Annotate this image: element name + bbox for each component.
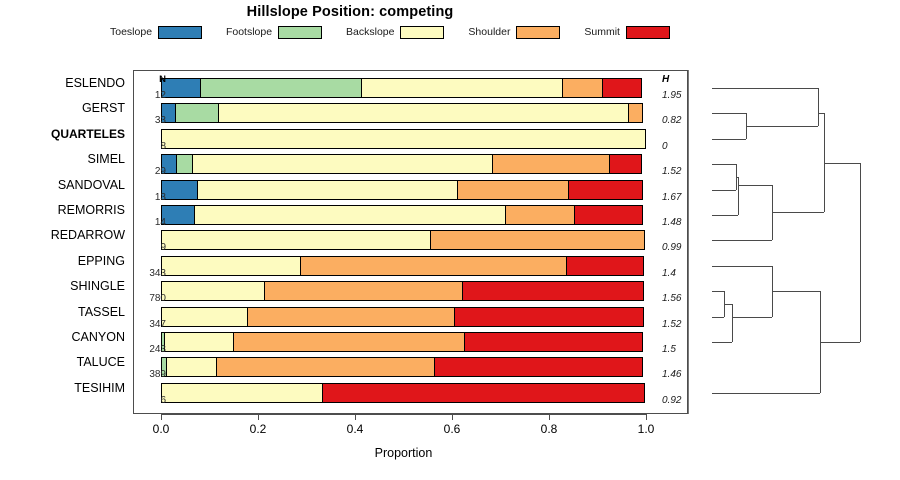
- n-column-header: N: [136, 74, 166, 85]
- stacked-bar: [161, 180, 646, 200]
- dendrogram-link: [738, 185, 772, 186]
- bar-segment-backslope: [197, 180, 458, 200]
- dendrogram-link: [818, 88, 819, 126]
- bar-segment-backslope: [194, 205, 506, 225]
- row-label-epping: EPPING: [0, 254, 125, 268]
- bar-segment-backslope: [161, 383, 323, 403]
- row-n-value: 243: [136, 344, 166, 355]
- x-axis-line: [161, 414, 646, 415]
- row-n-value: 9: [136, 242, 166, 253]
- legend-swatch: [626, 26, 670, 39]
- bar-segment-footslope: [176, 154, 192, 174]
- row-label-taluce: TALUCE: [0, 355, 125, 369]
- row-label-remorris: REMORRIS: [0, 203, 125, 217]
- row-label-sandoval: SANDOVAL: [0, 178, 125, 192]
- axis-tick: [646, 414, 647, 420]
- dendrogram: [690, 70, 900, 414]
- stacked-bar: [161, 129, 646, 149]
- dendrogram-link: [712, 139, 746, 140]
- legend-item-toeslope: Toeslope: [110, 26, 202, 39]
- dendrogram-link: [724, 304, 732, 305]
- plot-area: [161, 70, 646, 414]
- bar-segment-backslope: [164, 332, 234, 352]
- bar-segment-backslope: [161, 307, 248, 327]
- row-label-canyon: CANYON: [0, 330, 125, 344]
- stacked-bar: [161, 357, 646, 377]
- bar-segment-summit: [454, 307, 644, 327]
- bar-segment-summit: [322, 383, 645, 403]
- legend: ToeslopeFootslopeBackslopeShoulderSummit: [110, 24, 670, 40]
- bar-segment-summit: [574, 205, 643, 225]
- bar-segment-shoulder: [430, 230, 645, 250]
- legend-label: Backslope: [346, 26, 394, 38]
- bar-segment-summit: [434, 357, 643, 377]
- dendrogram-link: [712, 317, 724, 318]
- bar-segment-summit: [462, 281, 644, 301]
- stacked-bar: [161, 256, 646, 276]
- bar-segment-summit: [566, 256, 644, 276]
- dendrogram-link: [772, 291, 820, 292]
- row-label-simel: SIMEL: [0, 152, 125, 166]
- dendrogram-link: [738, 177, 739, 215]
- legend-swatch: [516, 26, 560, 39]
- row-label-tesihim: TESIHIM: [0, 381, 125, 395]
- row-n-value: 12: [136, 90, 166, 101]
- bar-segment-backslope: [161, 281, 265, 301]
- dendrogram-link: [712, 266, 772, 267]
- row-n-value: 343: [136, 268, 166, 279]
- dendrogram-link: [712, 164, 736, 165]
- stacked-bar: [161, 103, 646, 123]
- bar-segment-backslope: [161, 129, 646, 149]
- row-n-value: 347: [136, 319, 166, 330]
- legend-item-shoulder: Shoulder: [468, 26, 560, 39]
- bar-segment-summit: [464, 332, 643, 352]
- x-axis-label: Proportion: [161, 446, 646, 460]
- stacked-bar: [161, 205, 646, 225]
- bar-segment-footslope: [175, 103, 219, 123]
- row-n-value: 14: [136, 217, 166, 228]
- dendrogram-link: [732, 317, 772, 318]
- dendrogram-link: [712, 215, 738, 216]
- row-label-gerst: GERST: [0, 101, 125, 115]
- row-n-value: 8: [136, 141, 166, 152]
- bar-segment-shoulder: [562, 78, 603, 98]
- bar-segment-footslope: [200, 78, 362, 98]
- dendrogram-link: [746, 126, 818, 127]
- legend-label: Toeslope: [110, 26, 152, 38]
- legend-label: Footslope: [226, 26, 272, 38]
- dendrogram-link: [772, 212, 824, 213]
- legend-swatch: [158, 26, 202, 39]
- bar-segment-backslope: [192, 154, 493, 174]
- stacked-bar: [161, 78, 646, 98]
- chart-root: Hillslope Position: competing ToeslopeFo…: [0, 0, 900, 480]
- stacked-bar: [161, 307, 646, 327]
- dendrogram-link: [712, 88, 818, 89]
- legend-label: Shoulder: [468, 26, 510, 38]
- bar-segment-backslope: [361, 78, 563, 98]
- row-n-value: 780: [136, 293, 166, 304]
- row-label-eslendo: ESLENDO: [0, 76, 125, 90]
- bar-segment-backslope: [218, 103, 630, 123]
- bar-segment-shoulder: [264, 281, 463, 301]
- bar-segment-toeslope: [161, 205, 195, 225]
- row-label-tassel: TASSEL: [0, 305, 125, 319]
- stacked-bar: [161, 154, 646, 174]
- bar-segment-summit: [568, 180, 643, 200]
- page-title: Hillslope Position: competing: [0, 4, 700, 20]
- row-n-value: 13: [136, 192, 166, 203]
- bar-segment-summit: [602, 78, 642, 98]
- axis-tick-label: 1.0: [626, 422, 666, 436]
- dendrogram-link: [824, 163, 860, 164]
- dendrogram-link: [860, 163, 861, 342]
- legend-item-backslope: Backslope: [346, 26, 444, 39]
- stacked-bar: [161, 230, 646, 250]
- axis-tick-label: 0.6: [432, 422, 472, 436]
- axis-tick: [355, 414, 356, 420]
- dendrogram-link: [712, 291, 724, 292]
- dendrogram-link: [712, 342, 732, 343]
- legend-label: Summit: [584, 26, 620, 38]
- bar-segment-toeslope: [161, 78, 201, 98]
- bar-segment-summit: [609, 154, 642, 174]
- bar-segment-toeslope: [161, 180, 198, 200]
- bar-segment-backslope: [161, 230, 431, 250]
- axis-tick: [549, 414, 550, 420]
- legend-swatch: [278, 26, 322, 39]
- dendrogram-link: [712, 113, 746, 114]
- dendrogram-link: [820, 342, 860, 343]
- stacked-bar: [161, 332, 646, 352]
- stacked-bar: [161, 281, 646, 301]
- axis-tick: [258, 414, 259, 420]
- dendrogram-link: [732, 304, 733, 342]
- row-label-redarrow: REDARROW: [0, 228, 125, 242]
- axis-tick: [452, 414, 453, 420]
- bar-segment-backslope: [161, 256, 301, 276]
- bar-segment-shoulder: [300, 256, 567, 276]
- legend-swatch: [400, 26, 444, 39]
- bar-segment-shoulder: [216, 357, 436, 377]
- stacked-bar: [161, 383, 646, 403]
- dendrogram-link: [712, 393, 820, 394]
- axis-tick-label: 0.0: [141, 422, 181, 436]
- dendrogram-link: [712, 190, 736, 191]
- bar-segment-shoulder: [233, 332, 465, 352]
- axis-tick-label: 0.2: [238, 422, 278, 436]
- bar-segment-backslope: [166, 357, 216, 377]
- row-label-shingle: SHINGLE: [0, 279, 125, 293]
- axis-tick-label: 0.4: [335, 422, 375, 436]
- row-n-value: 6: [136, 395, 166, 406]
- bar-segment-shoulder: [505, 205, 574, 225]
- bar-segment-shoulder: [457, 180, 569, 200]
- bar-segment-shoulder: [492, 154, 609, 174]
- bar-segment-shoulder: [247, 307, 455, 327]
- legend-item-footslope: Footslope: [226, 26, 322, 39]
- row-n-value: 29: [136, 166, 166, 177]
- h-column-header: H: [662, 74, 696, 85]
- row-label-quarteles: QUARTELES: [0, 127, 125, 141]
- dendrogram-axis: [688, 70, 689, 414]
- row-n-value: 33: [136, 115, 166, 126]
- row-n-value: 389: [136, 369, 166, 380]
- legend-item-summit: Summit: [584, 26, 670, 39]
- axis-tick-label: 0.8: [529, 422, 569, 436]
- bar-segment-shoulder: [628, 103, 643, 123]
- dendrogram-link: [712, 240, 772, 241]
- axis-tick: [161, 414, 162, 420]
